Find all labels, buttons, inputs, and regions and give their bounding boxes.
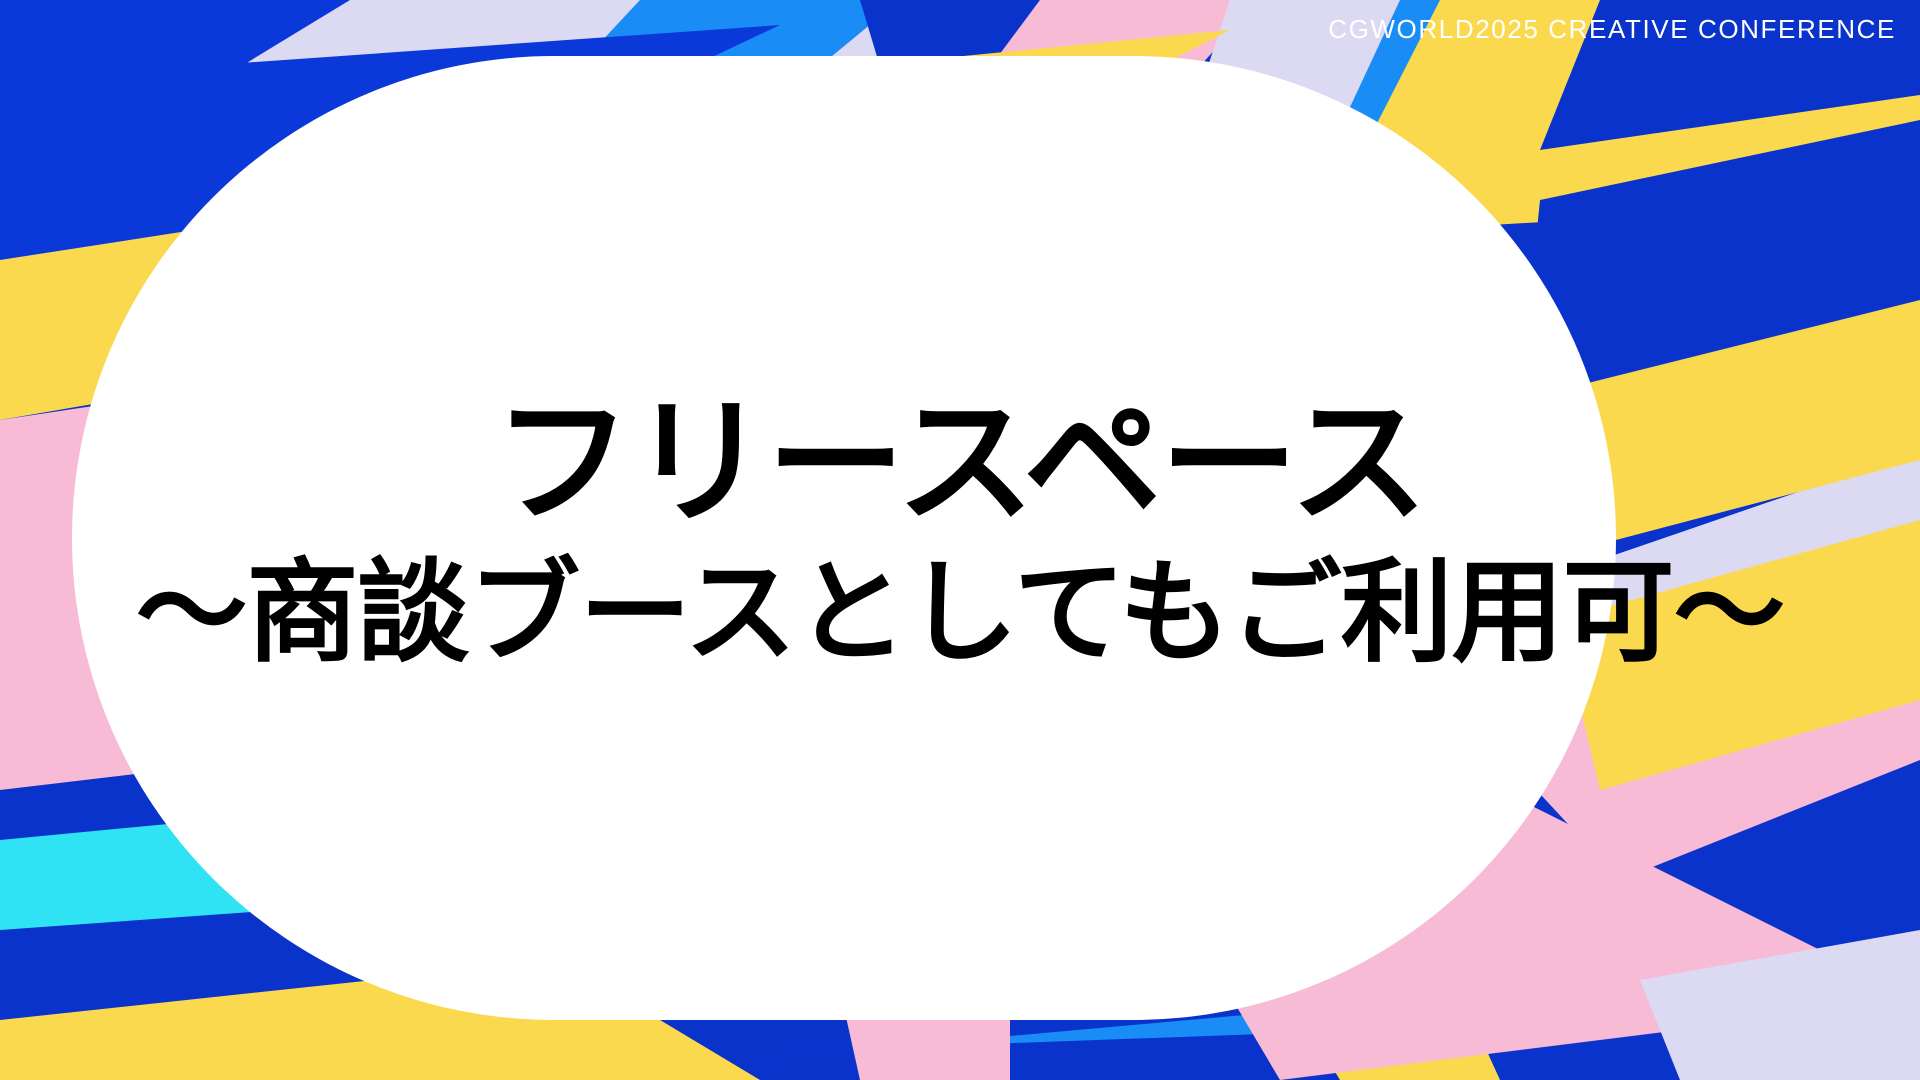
slide-canvas: CGWORLD2025 CREATIVE CONFERENCE フリースペース …	[0, 0, 1920, 1080]
content-card	[72, 56, 1616, 1020]
conference-title-label: CGWORLD2025 CREATIVE CONFERENCE	[1328, 14, 1896, 45]
